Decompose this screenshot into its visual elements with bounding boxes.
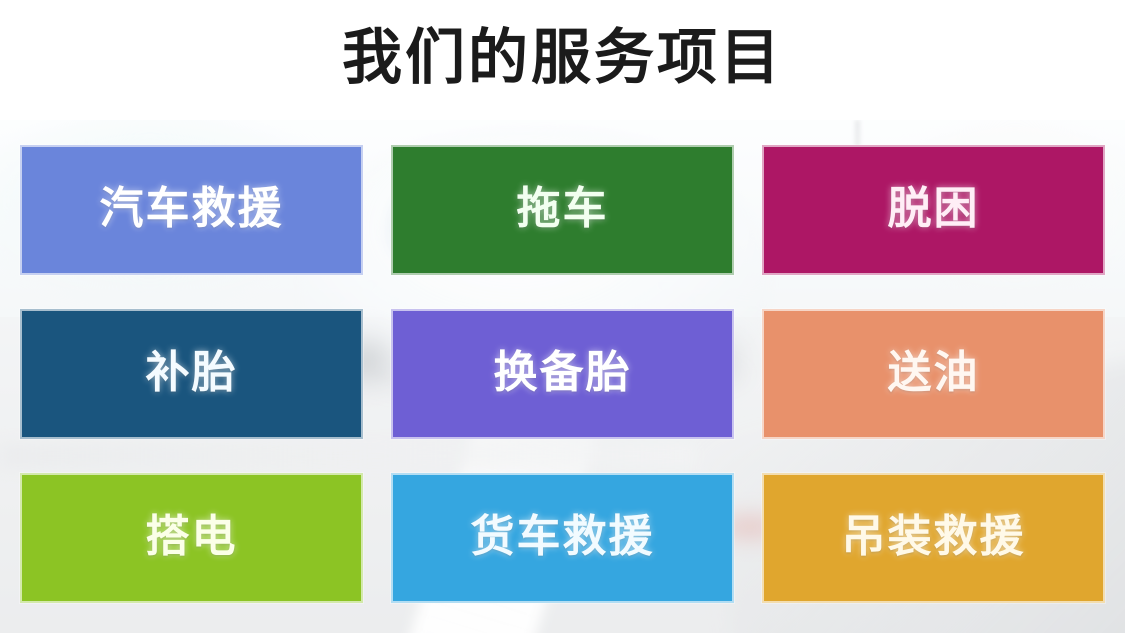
- service-tile-label: 汽车救援: [100, 187, 284, 231]
- service-tile-jump-start[interactable]: 搭电: [20, 473, 363, 603]
- service-tile-extrication[interactable]: 脱困: [762, 145, 1105, 275]
- service-tile-label: 脱困: [888, 187, 980, 231]
- service-tile-spare-tire-change[interactable]: 换备胎: [391, 309, 734, 439]
- service-tile-fuel-delivery[interactable]: 送油: [762, 309, 1105, 439]
- service-tile-label: 拖车: [517, 187, 609, 231]
- service-poster: 我们的服务项目 汽车救援拖车脱困补胎换备胎送油搭电货车救援吊装救援: [0, 0, 1125, 633]
- service-tile-label: 补胎: [146, 351, 238, 395]
- service-tile-grid: 汽车救援拖车脱困补胎换备胎送油搭电货车救援吊装救援: [20, 145, 1105, 603]
- service-tile-label: 换备胎: [494, 351, 632, 395]
- service-tile-label: 送油: [888, 351, 980, 395]
- service-tile-tire-repair[interactable]: 补胎: [20, 309, 363, 439]
- service-tile-label: 吊装救援: [842, 515, 1026, 559]
- service-tile-label: 搭电: [146, 515, 238, 559]
- title-band: 我们的服务项目: [0, 0, 1125, 120]
- service-tile-car-rescue[interactable]: 汽车救援: [20, 145, 363, 275]
- service-tile-truck-rescue[interactable]: 货车救援: [391, 473, 734, 603]
- service-tile-label: 货车救援: [471, 515, 655, 559]
- service-tile-crane-rescue[interactable]: 吊装救援: [762, 473, 1105, 603]
- page-title: 我们的服务项目: [342, 28, 783, 92]
- service-tile-towing[interactable]: 拖车: [391, 145, 734, 275]
